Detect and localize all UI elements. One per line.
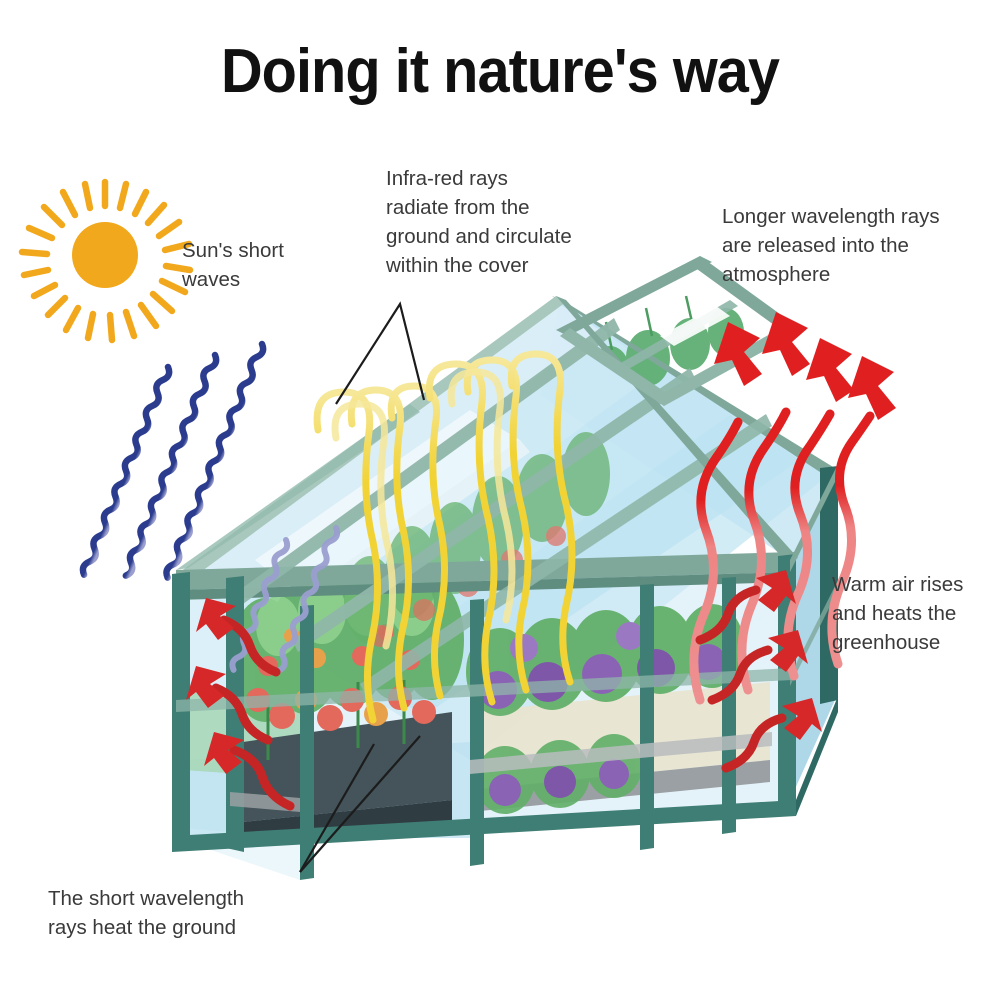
annotation-longer-wavelength-rays: Longer wavelength rays are released into… [722,202,967,289]
annotation-short-wavelength-heat-ground: The short wavelength rays heat the groun… [48,884,310,942]
sun-icon [22,182,190,340]
greenhouse-effect-illustration [0,0,1000,1000]
infographic-canvas: Doing it nature's way Sun's short waves … [0,0,1000,1000]
annotation-infrared-rays: Infra-red rays radiate from the ground a… [386,164,616,280]
page-title: Doing it nature's way [35,36,965,107]
annotation-suns-short-waves: Sun's short waves [182,236,332,294]
annotation-warm-air-rises: Warm air rises and heats the greenhouse [832,570,992,657]
